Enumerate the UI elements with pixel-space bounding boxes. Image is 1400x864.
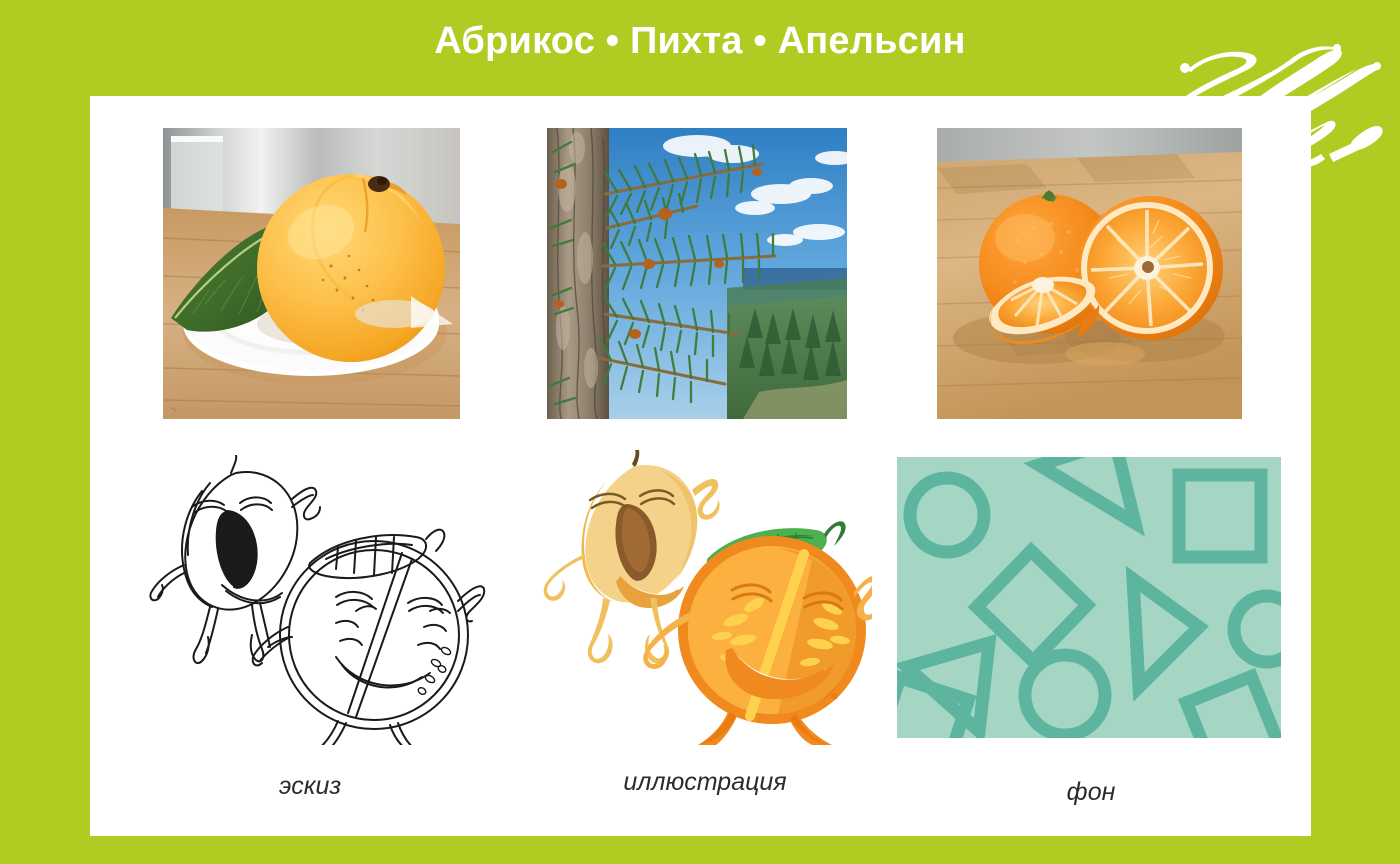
background-pattern-artwork: [897, 457, 1281, 738]
fir-photo: [547, 128, 847, 419]
illustration-artwork: [540, 450, 872, 745]
caption-sketch: эскиз: [165, 772, 455, 801]
caption-background: фон: [935, 778, 1247, 807]
svg-text:✎: ✎: [171, 407, 177, 414]
page-title: Абрикос • Пихта • Апельсин: [0, 20, 1400, 63]
apricot-photo: ✎: [163, 128, 460, 419]
sketch-artwork: [140, 455, 490, 745]
caption-illustration: иллюстрация: [545, 768, 865, 797]
slide-canvas: Абрикос • Пихта • Апельсин: [0, 0, 1400, 864]
orange-photo: [937, 128, 1242, 419]
